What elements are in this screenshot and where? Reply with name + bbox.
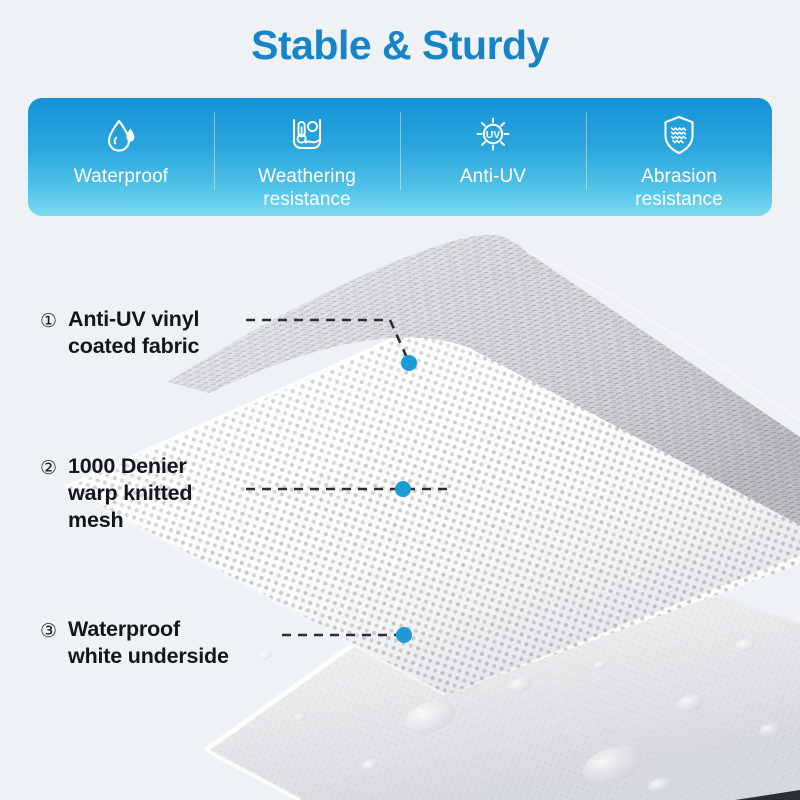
feature-label: Waterproof [74, 165, 168, 188]
sun-uv-icon: UV [470, 112, 516, 158]
page-title: Stable & Sturdy [0, 22, 800, 69]
infographic-page: Stable & Sturdy Waterproof [0, 0, 800, 800]
shield-waves-icon [657, 112, 701, 158]
feature-label: Abrasion resistance [635, 165, 723, 211]
callout-label: Waterproof white underside [68, 616, 229, 670]
feature-item-abrasion-resistance: Abrasion resistance [586, 98, 772, 216]
callout-waterproof-underside: ③ Waterproof white underside [40, 616, 229, 670]
callout-label: 1000 Denier warp knitted mesh [68, 453, 192, 534]
feature-item-weathering-resistance: Weathering resistance [214, 98, 400, 216]
callout-number: ② [40, 453, 57, 481]
feature-banner: Waterproof Weathering resistance [28, 98, 772, 216]
callout-number: ③ [40, 616, 57, 644]
feature-item-waterproof: Waterproof [28, 98, 214, 216]
callout-label: Anti-UV vinyl coated fabric [68, 306, 199, 360]
svg-text:UV: UV [486, 129, 501, 141]
thermometer-weather-icon [284, 112, 330, 158]
water-drop-icon [99, 112, 143, 158]
feature-item-anti-uv: UV Anti-UV [400, 98, 586, 216]
callout-anti-uv-vinyl: ① Anti-UV vinyl coated fabric [40, 306, 199, 360]
feature-label: Weathering resistance [258, 165, 356, 211]
callout-denier-mesh: ② 1000 Denier warp knitted mesh [40, 453, 192, 534]
feature-label: Anti-UV [460, 165, 526, 188]
callout-number: ① [40, 306, 57, 334]
